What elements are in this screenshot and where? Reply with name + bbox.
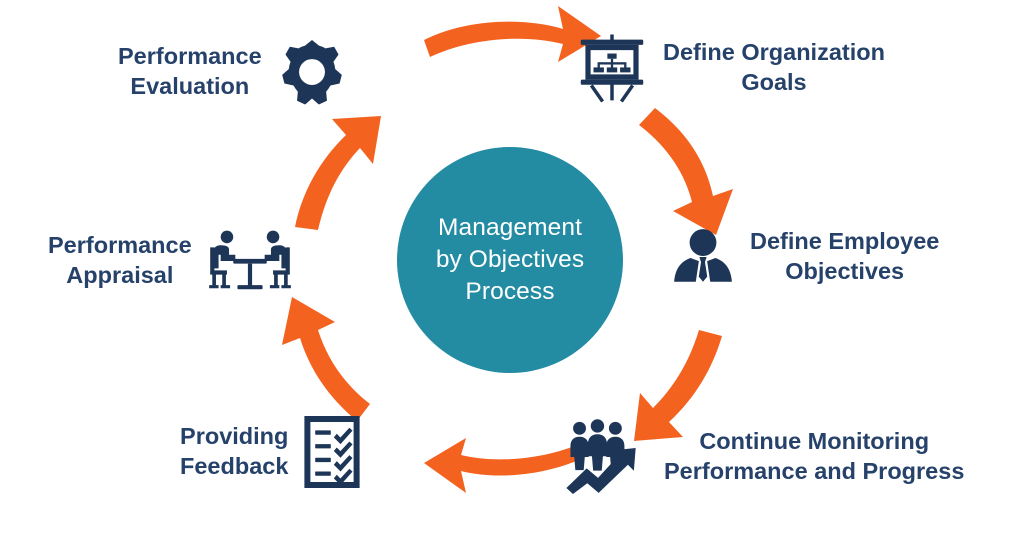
presentation-org-chart-icon xyxy=(575,31,649,105)
step-define-organization-goals[interactable]: Define Organization Goals xyxy=(575,31,885,105)
step-providing-feedback[interactable]: Providing Feedback xyxy=(180,413,362,491)
arrow-to-appraisal xyxy=(282,297,370,421)
arrow-to-employee-objectives xyxy=(639,108,733,235)
businessperson-icon xyxy=(670,224,736,290)
step-define-employee-objectives[interactable]: Define Employee Objectives xyxy=(670,224,939,290)
center-hub: Management by Objectives Process xyxy=(397,147,623,373)
step-continue-monitoring[interactable]: Continue Monitoring Performance and Prog… xyxy=(564,418,964,496)
step-performance-evaluation-label: Performance Evaluation xyxy=(118,42,262,101)
step-define-employee-objectives-label: Define Employee Objectives xyxy=(750,227,939,286)
center-hub-label: Management by Objectives Process xyxy=(436,212,584,309)
step-providing-feedback-label: Providing Feedback xyxy=(180,422,288,481)
step-performance-evaluation[interactable]: Performance Evaluation xyxy=(118,36,348,108)
step-continue-monitoring-label: Continue Monitoring Performance and Prog… xyxy=(664,427,964,486)
step-performance-appraisal-label: Performance Appraisal xyxy=(48,231,192,290)
step-define-organization-goals-label: Define Organization Goals xyxy=(663,38,885,97)
meeting-table-icon xyxy=(206,227,294,295)
arrow-to-performance-evaluation xyxy=(295,116,381,230)
people-growth-chart-icon xyxy=(564,418,650,496)
checklist-icon xyxy=(302,413,362,491)
gear-icon xyxy=(276,36,348,108)
step-performance-appraisal[interactable]: Performance Appraisal xyxy=(48,227,294,295)
mbo-process-diagram: Management by Objectives Process Perform… xyxy=(0,0,1024,535)
